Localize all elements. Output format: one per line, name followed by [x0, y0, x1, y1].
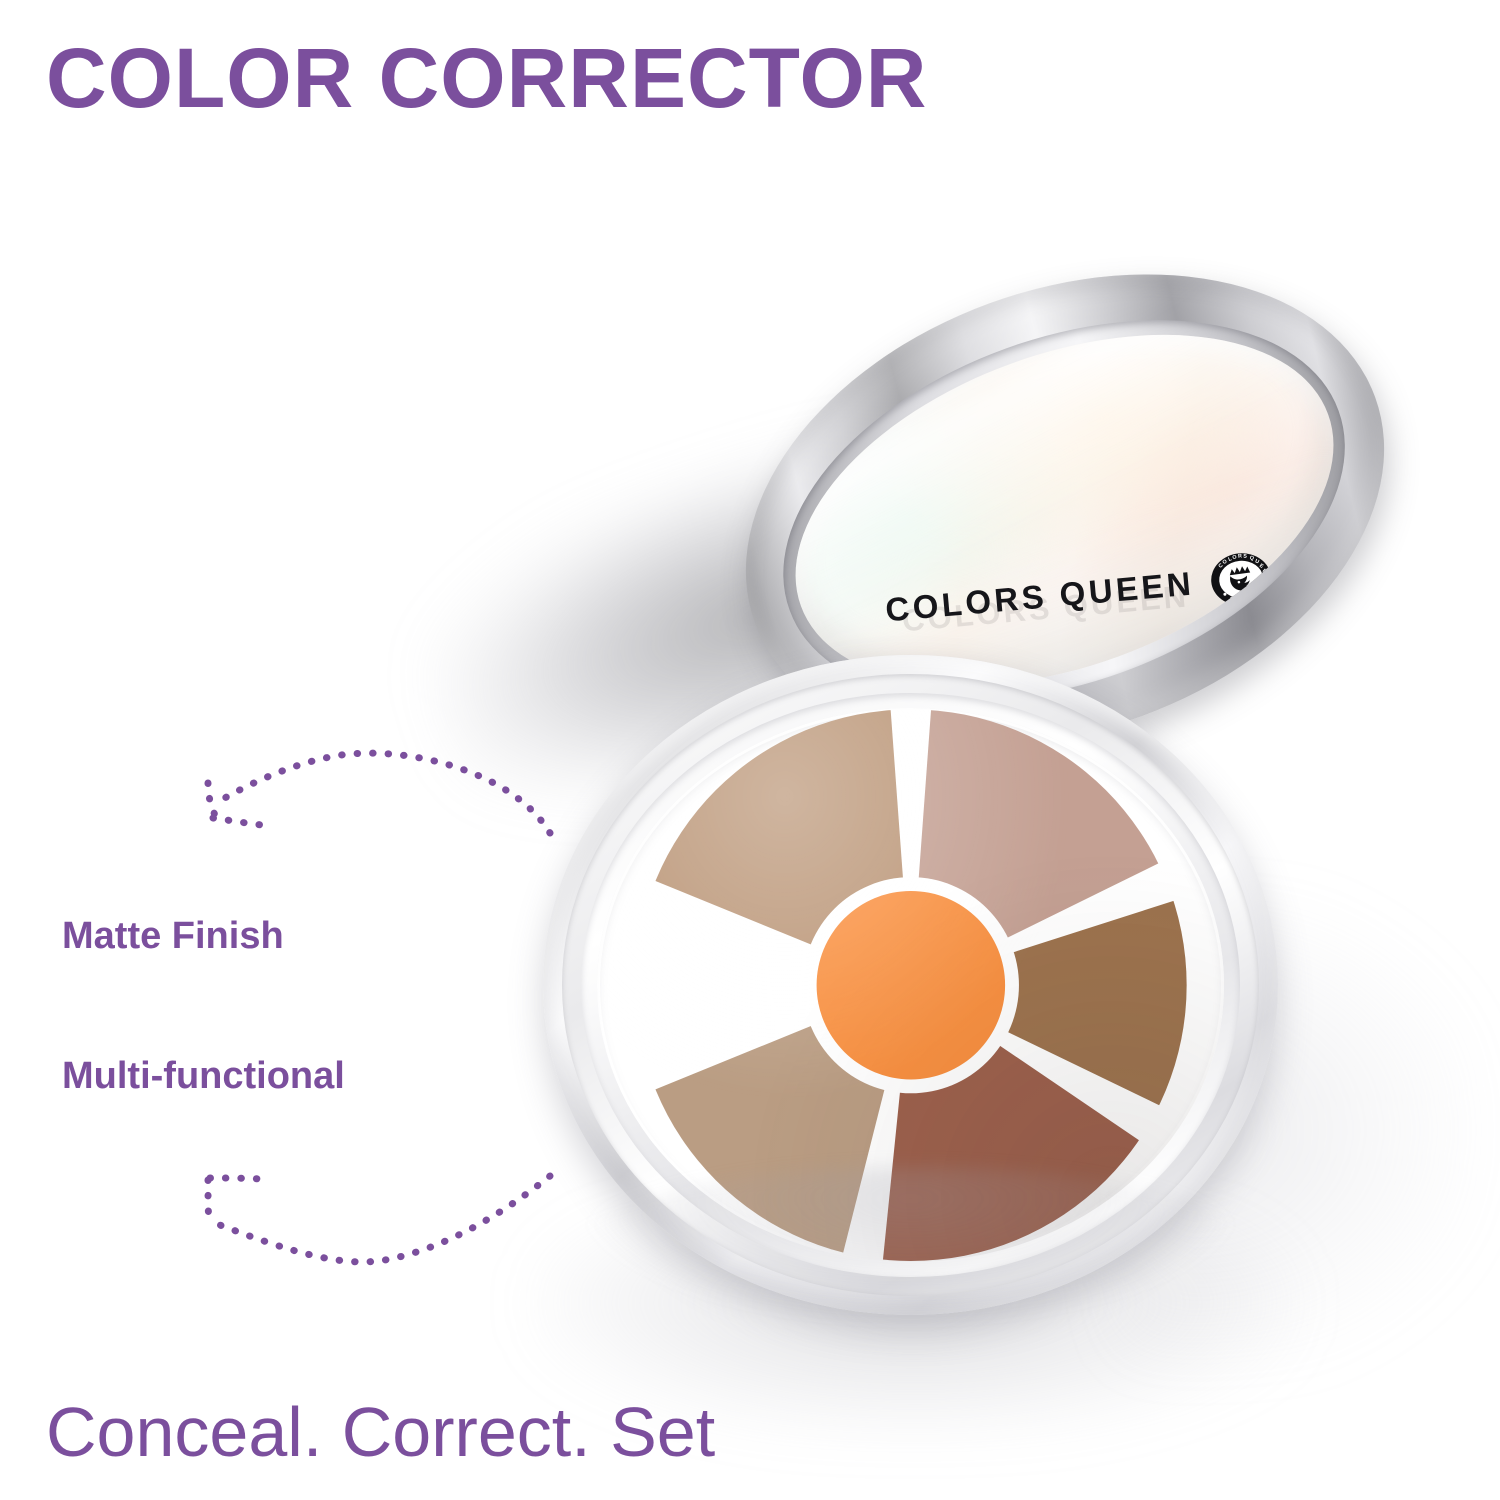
feature-label-matte-finish: Matte Finish [62, 915, 284, 958]
feature-label-multi-functional: Multi-functional [62, 1055, 345, 1098]
compact-base-pan [543, 655, 1278, 1315]
color-corrector-wheel [597, 708, 1225, 1262]
page-title: COLOR CORRECTOR [46, 34, 927, 122]
queen-head-crown-icon: C O L O R S Q U E E N [1208, 550, 1274, 609]
color-center-orange-corrector [816, 891, 1004, 1079]
tagline: Conceal. Correct. Set [46, 1392, 715, 1472]
registered-trademark-icon: ® [1286, 549, 1300, 570]
product-banner: COLOR CORRECTOR COLORS QUEEN COLORS QUEE… [0, 0, 1500, 1500]
